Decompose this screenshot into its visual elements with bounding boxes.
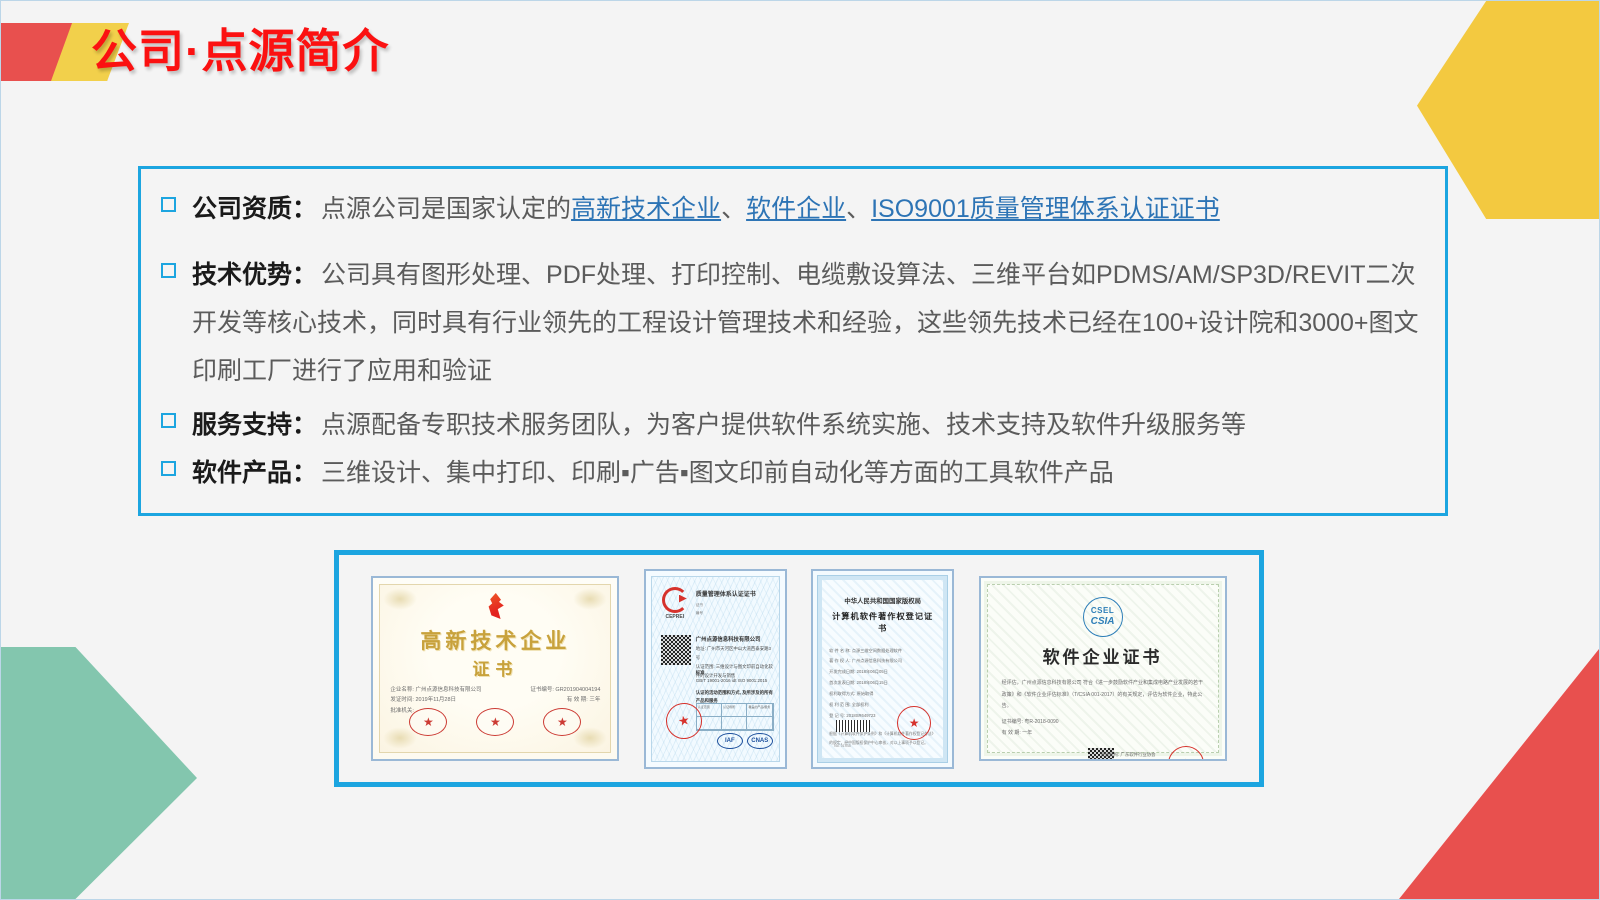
certificate-high-tech-enterprise[interactable]: 高新技术企业 证书 企业名称: 广州点源信息科技有限公司 证书编号: GR201… — [371, 576, 619, 761]
field-key: 著 作 权 人: — [829, 658, 850, 663]
slide-root: 公司·点源简介 公司资质：点源公司是国家认定的高新技术企业、软件企业、ISO90… — [0, 0, 1600, 900]
bullet-colon: ： — [292, 261, 317, 289]
bullet-lead-text: 点源公司是国家认定的 — [321, 195, 571, 223]
field-row: 有 效 期: 一年 — [1002, 728, 1204, 740]
red-seal-icon: ★ — [476, 708, 514, 736]
certificate-frame: CEPREI 质量管理体系认证证书 证书 编号 广州点源信息科技有限公司 地址:… — [651, 576, 780, 762]
certificate-frame: 中华人民共和国国家版权局 计算机软件著作权登记证书 软 件 名 称: 点源三维空… — [818, 576, 947, 762]
ornament-icon — [383, 588, 417, 610]
table-row — [697, 717, 773, 730]
field-key: 软 件 名 称: — [829, 648, 850, 653]
bottom-left-green-chevron-decoration — [1, 647, 197, 899]
field-key: 企业名称: — [390, 687, 414, 693]
square-bullet-icon — [161, 413, 176, 428]
bullet-label: 服务支持 — [192, 411, 292, 439]
field-key: 证书编号: — [1002, 719, 1023, 725]
certificate-frame: CSEL CSIA 软件企业证书 经评估，广州点源信息科技有限公司 符合《进一步… — [987, 584, 1219, 753]
certificates-panel: 高新技术企业 证书 企业名称: 广州点源信息科技有限公司 证书编号: GR201… — [334, 550, 1264, 787]
cnas-badge-icon: CNAS — [747, 733, 773, 749]
red-seal-icon: ★ — [897, 706, 931, 740]
bullet-body-text: 三维设计、集中打印、印刷▪广告▪图文印前自动化等方面的工具软件产品 — [321, 459, 1114, 487]
table-cell — [747, 717, 772, 730]
sub-line: 编号 — [696, 609, 774, 617]
content-panel: 公司资质：点源公司是国家认定的高新技术企业、软件企业、ISO9001质量管理体系… — [138, 166, 1448, 516]
field-value: 广州点源信息科技有限公司 — [852, 658, 902, 663]
ceprei-logo: CEPREI — [662, 587, 688, 620]
ceprei-mark-icon — [662, 587, 688, 613]
certificate-scope-table: 认证范围 认证场所 覆盖的产品/服务 — [696, 703, 774, 731]
company-detail: 地址: 广州市天河区中山大道西泰安路3号 — [696, 645, 774, 663]
ceprei-logo-text: CEPREI — [662, 614, 688, 620]
certificate-subtitle: 证书 — [380, 655, 610, 680]
ornament-icon — [573, 588, 607, 610]
certificate-title: 计算机软件著作权登记证书 — [829, 610, 936, 634]
field-row: 首次发表日期: 2018年06月15日 — [829, 678, 936, 689]
table-header-cell: 认证场所 — [722, 704, 747, 717]
bullet-item-technical-advantage: 技术优势：公司具有图形处理、PDF处理、打印控制、电缆敷设算法、三维平台如PDM… — [161, 251, 1423, 395]
red-seal-icon: ★ — [409, 708, 447, 736]
qr-code-icon — [661, 635, 691, 665]
body-paragraph: 经评估，广州点源信息科技有限公司 符合《进一步鼓励软件产业和集成电路产业发展的若… — [1002, 678, 1204, 713]
certificate-serial: No. 01945 — [834, 744, 851, 748]
separator-1: 、 — [721, 195, 746, 223]
field-value: 2018年06月05日 — [857, 669, 888, 674]
bullet-label: 技术优势 — [192, 261, 292, 289]
field-row: 日 期: 2018 年 04 月 27 日 — [1100, 760, 1155, 761]
field-key: 权利取得方式: — [829, 691, 855, 696]
bullet-text: 技术优势：公司具有图形处理、PDF处理、打印控制、电缆敷设算法、三维平台如PDM… — [192, 251, 1423, 395]
certificate-body: 经评估，广州点源信息科技有限公司 符合《进一步鼓励软件产业和集成电路产业发展的若… — [1002, 678, 1204, 740]
bullet-body-text: 点源配备专职技术服务团队，为客户提供软件系统实施、技术支持及软件升级服务等 — [321, 411, 1246, 439]
field-key: 开发完成日期: — [829, 669, 855, 674]
certificate-software-enterprise[interactable]: CSEL CSIA 软件企业证书 经评估，广州点源信息科技有限公司 符合《进一步… — [979, 576, 1227, 761]
certificate-standard-block: 标准 GB/T 19001-2016 idt ISO 9001:2015 — [696, 669, 774, 687]
iaf-badge-icon: IAF — [717, 733, 743, 749]
field-key: 有 效 期: — [567, 697, 588, 703]
certificate-title: 软件企业证书 — [1002, 643, 1204, 668]
field-value: 一年 — [1022, 730, 1032, 736]
table-row: 认证范围 认证场所 覆盖的产品/服务 — [697, 704, 773, 717]
field-value: 广东软件行业协会 — [1120, 752, 1155, 757]
field-value: 2018SR649723 — [846, 713, 875, 718]
csia-logo-top-text: CSEL — [1091, 607, 1114, 616]
company-name: 广州点源信息科技有限公司 — [696, 635, 774, 646]
field-key: 登 记 号: — [829, 713, 845, 718]
separator-2: 、 — [846, 195, 871, 223]
red-seal-icon: ★ — [543, 708, 581, 736]
bullet-text: 服务支持：点源配备专职技术服务团队，为客户提供软件系统实施、技术支持及软件升级服… — [192, 401, 1423, 449]
bullet-label: 软件产品 — [192, 459, 292, 487]
field-value: 全部权利 — [852, 702, 869, 707]
certificate-frame: 高新技术企业 证书 企业名称: 广州点源信息科技有限公司 证书编号: GR201… — [379, 584, 611, 753]
bullet-text: 公司资质：点源公司是国家认定的高新技术企业、软件企业、ISO9001质量管理体系… — [192, 185, 1423, 233]
field-row: 著 作 权 人: 广州点源信息科技有限公司 — [829, 656, 936, 667]
bullet-label: 公司资质 — [192, 195, 292, 223]
accreditation-badges: IAF CNAS — [717, 733, 773, 749]
certificate-iso9001-quality-system[interactable]: CEPREI 质量管理体系认证证书 证书 编号 广州点源信息科技有限公司 地址:… — [644, 569, 787, 769]
standard-value: GB/T 19001-2016 idt ISO 9001:2015 — [696, 677, 774, 686]
link-high-tech-enterprise[interactable]: 高新技术企业 — [571, 195, 721, 223]
bullet-item-software-products: 软件产品：三维设计、集中打印、印刷▪广告▪图文印前自动化等方面的工具软件产品 — [161, 449, 1423, 497]
seal-group: ★ ★ ★ — [380, 708, 610, 736]
field-key: 证书编号: — [530, 687, 554, 693]
certificate-sub-lines: 证书 编号 — [696, 601, 774, 618]
csia-logo-icon: CSEL CSIA — [1083, 597, 1123, 637]
field-row: 评估机构: 广东软件行业协会 — [1100, 750, 1155, 761]
field-key: 有 效 期: — [1002, 730, 1021, 736]
field-key: 首次发表日期: — [829, 680, 855, 685]
certificate-title: 高新技术企业 — [380, 625, 610, 655]
bullet-body-text: 公司具有图形处理、PDF处理、打印控制、电缆敷设算法、三维平台如PDMS/AM/… — [192, 261, 1419, 385]
bullet-item-company-qualification: 公司资质：点源公司是国家认定的高新技术企业、软件企业、ISO9001质量管理体系… — [161, 185, 1423, 233]
bullet-text: 软件产品：三维设计、集中打印、印刷▪广告▪图文印前自动化等方面的工具软件产品 — [192, 449, 1423, 497]
bullet-colon: ： — [292, 459, 317, 487]
bottom-right-red-triangle-decoration — [1399, 649, 1599, 899]
certificate-software-copyright[interactable]: 中华人民共和国国家版权局 计算机软件著作权登记证书 软 件 名 称: 点源三维空… — [811, 569, 954, 769]
link-software-enterprise[interactable]: 软件企业 — [746, 195, 846, 223]
field-value: 2019年11月28日 — [415, 697, 456, 703]
field-value: 粤R-2018-0090 — [1024, 719, 1058, 725]
certificate-issuer-title: 中华人民共和国国家版权局 — [829, 596, 936, 605]
field-value: 三年 — [589, 697, 600, 703]
field-row: 软 件 名 称: 点源三维空间数据处理软件 — [829, 646, 936, 657]
bullet-item-service-support: 服务支持：点源配备专职技术服务团队，为客户提供软件系统实施、技术支持及软件升级服… — [161, 401, 1423, 449]
flame-logo-icon — [485, 593, 505, 619]
barcode-icon — [836, 720, 870, 732]
issuer-block: 评估机构: 广东软件行业协会 日 期: 2018 年 04 月 27 日 — [1100, 750, 1155, 762]
field-value: 点源三维空间数据处理软件 — [852, 648, 902, 653]
link-iso9001-certificate[interactable]: ISO9001质量管理体系认证证书 — [871, 195, 1220, 223]
certificate-title: 质量管理体系认证证书 — [696, 589, 774, 598]
csia-logo-bottom-text: CSIA — [1091, 616, 1115, 627]
bullet-colon: ： — [292, 195, 317, 223]
square-bullet-icon — [161, 461, 176, 476]
bullet-colon: ： — [292, 411, 317, 439]
field-value: 原始取得 — [857, 691, 874, 696]
field-value: GR201904004194 — [555, 687, 600, 693]
field-key: 权 利 范 围: — [829, 702, 850, 707]
field-key: 评估机构: — [1100, 752, 1119, 757]
field-value: 广州点源信息科技有限公司 — [415, 687, 481, 693]
sub-line: 证书 — [696, 601, 774, 609]
red-seal-icon: ★ — [1168, 746, 1204, 762]
table-header-cell: 覆盖的产品/服务 — [747, 704, 772, 717]
square-bullet-icon — [161, 263, 176, 278]
table-cell — [722, 717, 747, 730]
field-key: 发证时间: — [390, 697, 414, 703]
standard-title: 标准 — [696, 669, 774, 678]
square-bullet-icon — [161, 197, 176, 212]
field-row: 权利取得方式: 原始取得 — [829, 689, 936, 700]
field-row: 开发完成日期: 2018年06月05日 — [829, 667, 936, 678]
field-value: 2018年06月15日 — [857, 680, 888, 685]
page-title: 公司·点源简介 — [91, 15, 389, 81]
field-row: 证书编号: 粤R-2018-0090 — [1002, 717, 1204, 729]
